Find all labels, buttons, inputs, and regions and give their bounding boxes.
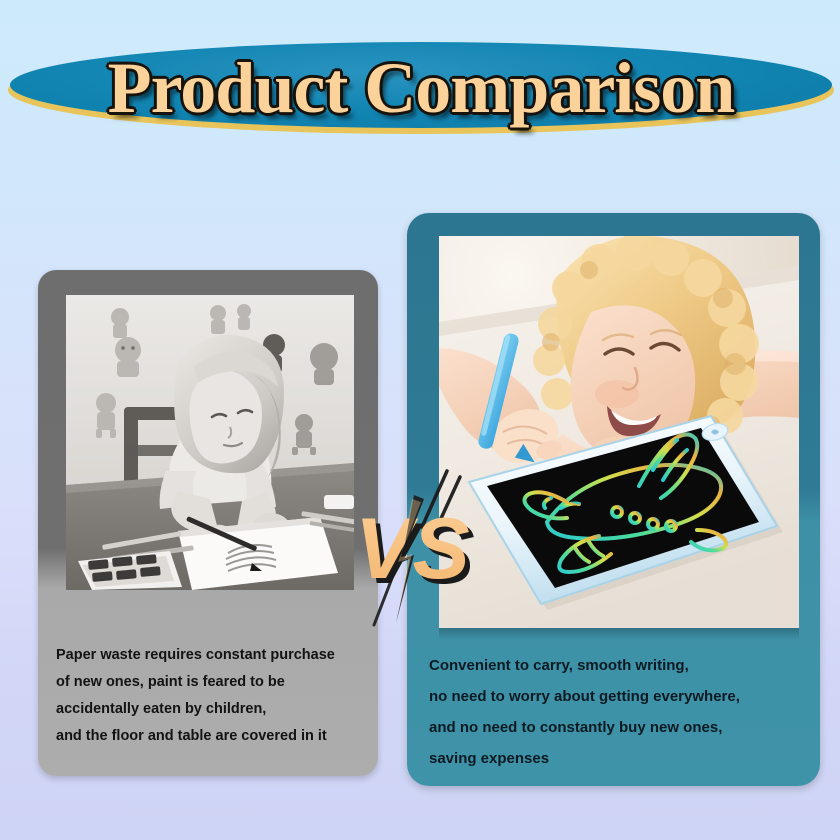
comparison-card-left: Paper waste requires constant purchase o…: [38, 270, 378, 776]
left-caption-line-4: and the floor and table are covered in i…: [56, 723, 366, 750]
right-caption-line-3: and no need to constantly buy new ones,: [429, 712, 819, 743]
left-caption-line-1: Paper waste requires constant purchase: [56, 642, 366, 669]
left-caption-line-3: accidentally eaten by children,: [56, 696, 366, 723]
infographic-canvas: Product Comparison: [0, 0, 840, 840]
left-panel-photo: [66, 295, 354, 590]
girl-drawing-on-lcd-tablet-photo: [439, 236, 799, 628]
right-caption-line-4: saving expenses: [429, 743, 819, 774]
left-caption-line-2: of new ones, paint is feared to be: [56, 669, 366, 696]
right-panel-photo: [439, 236, 799, 628]
right-caption-line-1: Convenient to carry, smooth writing,: [429, 650, 819, 681]
right-photo-shadow: [439, 628, 799, 640]
title-banner: Product Comparison: [8, 42, 834, 134]
right-panel-caption: Convenient to carry, smooth writing, no …: [429, 650, 819, 774]
comparison-card-right: Convenient to carry, smooth writing, no …: [407, 213, 820, 786]
right-caption-line-2: no need to worry about getting everywher…: [429, 681, 819, 712]
girl-drawing-on-paper-photo: [66, 295, 354, 590]
left-panel-caption: Paper waste requires constant purchase o…: [56, 642, 366, 750]
page-title: Product Comparison: [8, 46, 834, 130]
